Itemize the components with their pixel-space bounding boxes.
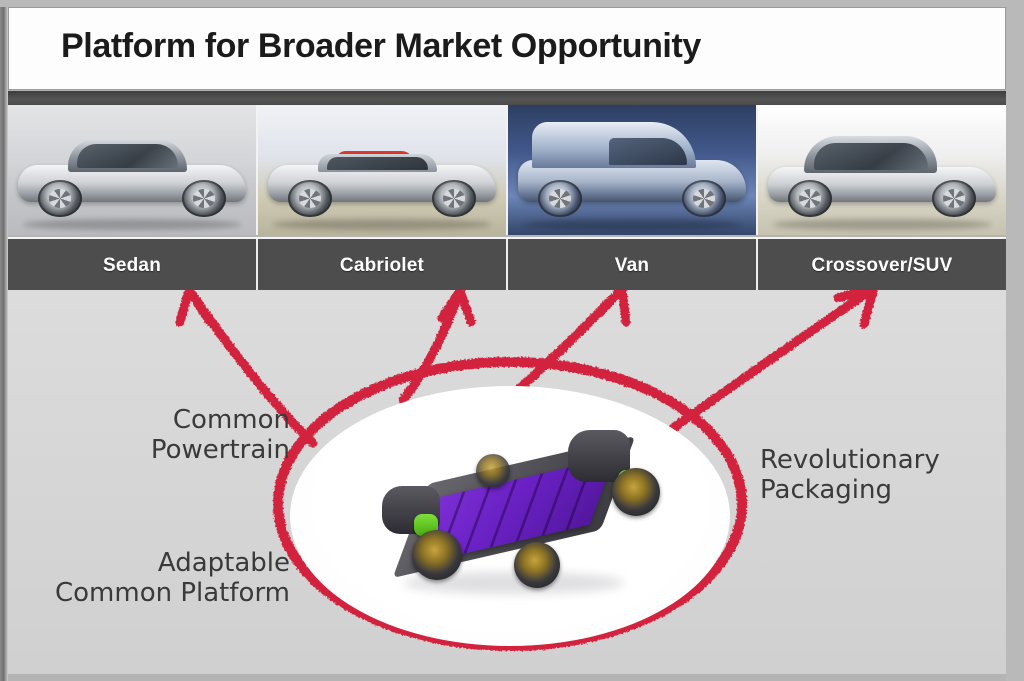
wheel-rear-left <box>412 530 462 580</box>
cabriolet-car-image <box>258 105 508 235</box>
skateboard-chassis-image <box>364 402 664 592</box>
sedan-car-image <box>8 105 258 235</box>
title-bar: Platform for Broader Market Opportunity <box>8 7 1006 90</box>
vehicle-label-crossover-suv[interactable]: Crossover/SUV <box>758 239 1006 292</box>
page-title: Platform for Broader Market Opportunity <box>61 27 701 66</box>
presentation-slide: Platform for Broader Market Opportunity <box>0 0 1024 681</box>
wheel-front-left <box>514 542 560 588</box>
header-divider-band <box>8 91 1006 105</box>
wheel-rear-right <box>612 468 660 516</box>
car-silhouette <box>768 136 996 217</box>
vehicle-label-row: Sedan Cabriolet Van Crossover/SUV <box>8 237 1006 294</box>
slide-left-edge <box>0 0 8 681</box>
annotation-common-powertrain: Common Powertrain <box>8 405 290 465</box>
car-silhouette <box>268 136 496 217</box>
car-shadow <box>23 219 241 229</box>
annotation-adaptable-common-platform: Adaptable Common Platform <box>8 548 290 608</box>
vehicle-label-van[interactable]: Van <box>508 239 758 292</box>
annotation-revolutionary-packaging: Revolutionary Packaging <box>760 445 1006 505</box>
platform-highlight <box>276 372 744 660</box>
vehicle-label-sedan[interactable]: Sedan <box>8 239 258 292</box>
crossover-suv-car-image <box>758 105 1006 235</box>
car-silhouette <box>518 136 746 217</box>
van-car-image <box>508 105 758 235</box>
wheel-front-right <box>476 454 510 488</box>
slide-right-edge <box>1006 0 1024 681</box>
slide-top-edge <box>0 0 1024 7</box>
car-silhouette <box>18 136 246 217</box>
vehicle-image-strip <box>8 105 1006 235</box>
vehicle-label-cabriolet[interactable]: Cabriolet <box>258 239 508 292</box>
car-shadow <box>273 219 491 229</box>
diagram-canvas: Common Powertrain Adaptable Common Platf… <box>8 290 1006 674</box>
car-shadow <box>523 219 741 229</box>
car-shadow <box>773 219 991 229</box>
